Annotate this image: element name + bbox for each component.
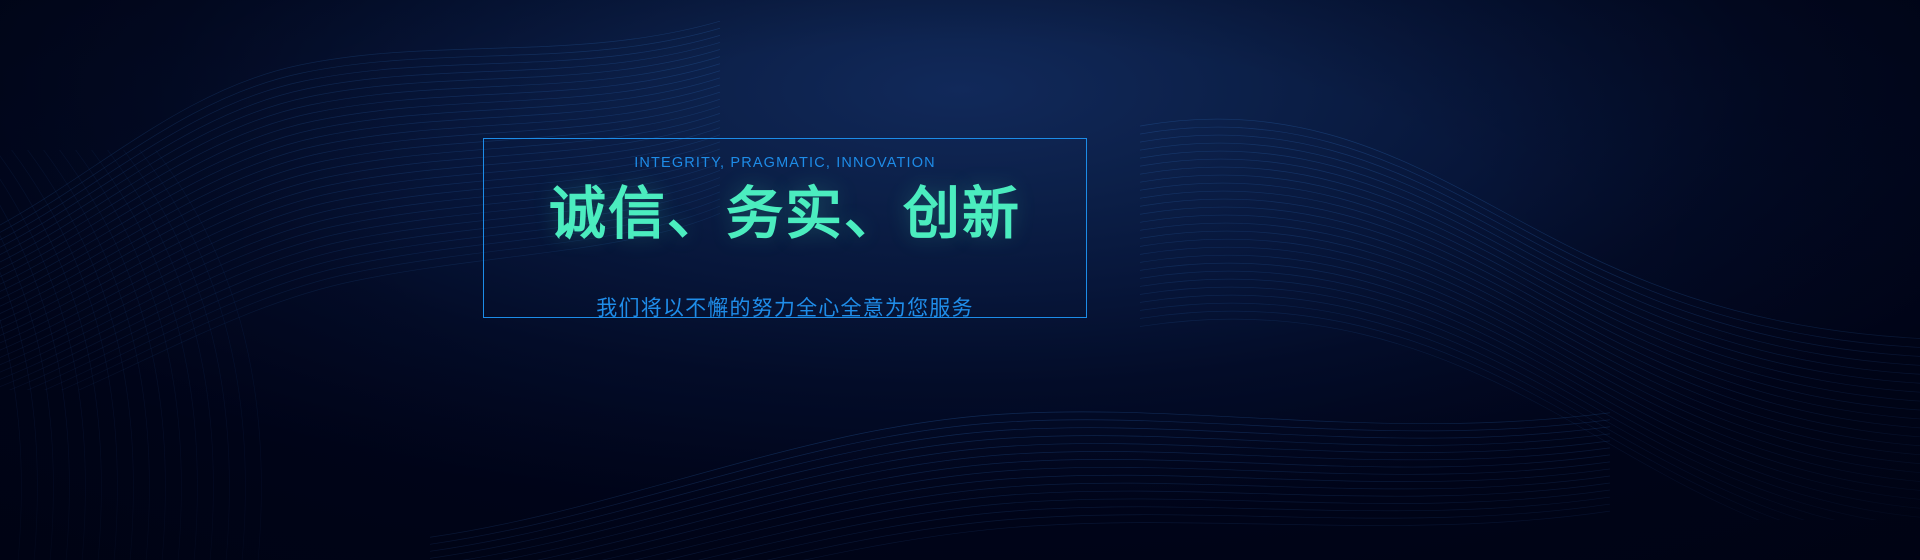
wave-mesh-right-icon: [1140, 90, 1920, 520]
hero-banner: INTEGRITY, PRAGMATIC, INNOVATION 诚信、务实、创…: [0, 0, 1920, 560]
tagline-english: INTEGRITY, PRAGMATIC, INNOVATION: [634, 156, 936, 171]
wave-mesh-bottom-icon: [430, 340, 1610, 560]
headline-chinese: 诚信、务实、创新: [549, 183, 1021, 247]
subtitle-chinese: 我们将以不懈的努力全心全意为您服务: [596, 298, 973, 319]
wave-mesh-farleft-icon: [0, 150, 460, 560]
slogan-frame: INTEGRITY, PRAGMATIC, INNOVATION 诚信、务实、创…: [483, 138, 1087, 318]
